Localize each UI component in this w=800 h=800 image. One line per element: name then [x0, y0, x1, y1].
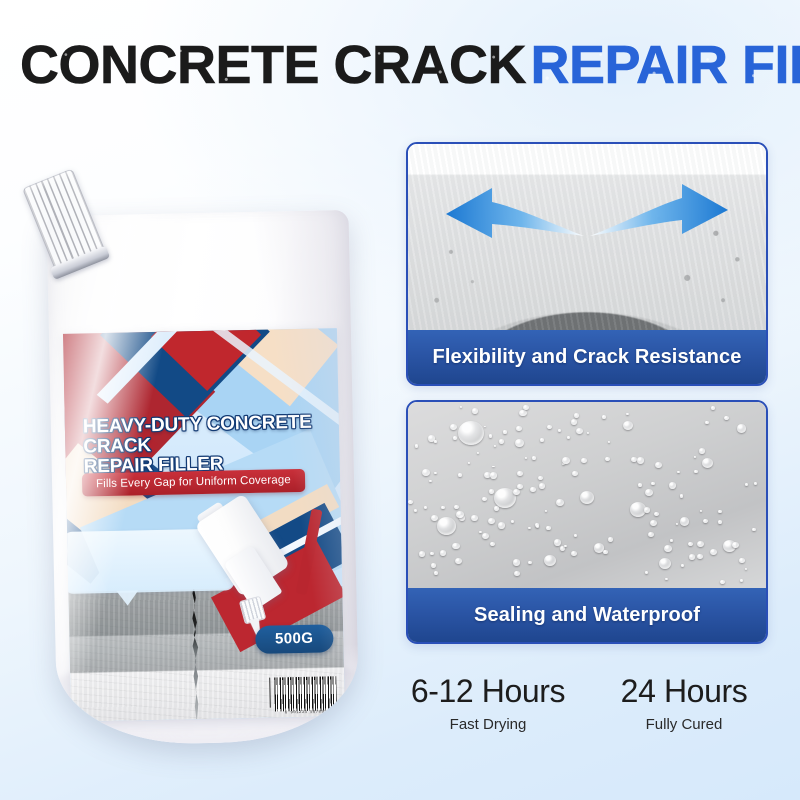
water-droplet [739, 558, 744, 563]
water-droplet [694, 470, 697, 473]
water-droplet [670, 539, 673, 542]
pouch-spout-cap [16, 167, 115, 289]
water-droplet [581, 458, 587, 463]
water-droplet [665, 578, 668, 581]
stat-fully-cured-label: Fully Cured [594, 716, 774, 733]
water-droplet [490, 542, 495, 547]
water-droplet [513, 559, 520, 565]
water-droplet [490, 472, 498, 479]
water-droplet [452, 543, 459, 550]
water-droplet [752, 528, 756, 531]
water-droplet [567, 436, 570, 439]
water-droplet [484, 426, 486, 428]
water-droplet [718, 510, 722, 514]
water-droplet [608, 537, 613, 542]
water-droplet [455, 558, 462, 564]
feature-caption-waterproof: Sealing and Waterproof [408, 588, 766, 642]
water-droplet [456, 511, 463, 518]
water-droplet [546, 526, 550, 530]
water-droplet [515, 439, 524, 447]
water-droplet [532, 456, 537, 460]
water-droplet [525, 457, 527, 459]
water-droplet [511, 520, 514, 523]
water-droplet [440, 550, 446, 555]
water-droplet [536, 525, 539, 528]
water-droplet [745, 483, 748, 486]
water-droplet [645, 489, 653, 496]
barcode [274, 676, 337, 711]
water-droplet [623, 421, 633, 430]
water-droplet [703, 519, 708, 524]
water-droplet [745, 568, 747, 570]
water-droplet [697, 554, 703, 559]
feature-caption-flexibility: Flexibility and Crack Resistance [408, 330, 766, 384]
water-droplet [454, 505, 459, 509]
expansion-arrows-icon [408, 144, 766, 330]
product-label: HEAVY-DUTY CONCRETE CRACK REPAIR FILLER … [63, 328, 345, 722]
water-droplet [488, 518, 495, 524]
water-droplet [528, 561, 532, 565]
water-droplet [530, 487, 535, 492]
water-droplet [699, 448, 706, 454]
water-droplet [482, 533, 489, 539]
water-droplet [718, 520, 723, 524]
water-droplet [688, 542, 692, 546]
water-droplet [650, 520, 657, 526]
water-droplet [626, 413, 628, 415]
weight-badge: 500G [255, 624, 334, 654]
water-droplet [540, 438, 544, 442]
water-droplet [694, 456, 696, 458]
water-droplet [434, 571, 438, 575]
water-droplet [422, 469, 430, 476]
water-droplet [494, 445, 496, 447]
water-droplet [472, 408, 479, 414]
water-droplet [434, 472, 437, 475]
water-droplet [516, 426, 522, 431]
water-droplet [408, 500, 413, 504]
water-droplet [603, 550, 607, 554]
water-droplet [498, 522, 505, 529]
water-droplet [724, 416, 729, 421]
water-droplet [517, 471, 523, 476]
water-droplet [705, 421, 709, 424]
water-droplet [477, 452, 479, 454]
feature-card-waterproof: Sealing and Waterproof [406, 400, 768, 644]
water-droplet [740, 579, 743, 582]
water-droplet [689, 554, 695, 560]
water-droplet [644, 507, 651, 513]
stat-fully-cured-value: 24 Hours [594, 672, 774, 710]
water-droplet [489, 434, 493, 437]
water-droplet [513, 489, 520, 495]
curing-stats: 6-12 Hours Fast Drying 24 Hours Fully Cu… [398, 672, 788, 768]
water-droplet [681, 564, 684, 567]
water-droplet [697, 541, 704, 547]
feature-image-waterproof [408, 402, 766, 588]
stat-fully-cured: 24 Hours Fully Cured [594, 672, 774, 733]
water-droplet [503, 430, 507, 433]
water-droplet [460, 406, 462, 408]
water-droplet [528, 527, 531, 529]
water-droplet [489, 489, 494, 494]
feature-image-flexibility [408, 144, 766, 330]
pouch-body: HEAVY-DUTY CONCRETE CRACK REPAIR FILLER … [46, 210, 359, 746]
water-droplet [659, 558, 671, 569]
feature-card-flexibility: Flexibility and Crack Resistance [406, 142, 768, 386]
product-marketing-banner: CONCRETE CRACK REPAIR FILLER [0, 0, 800, 800]
water-droplet [648, 532, 654, 537]
water-droplet [564, 545, 566, 547]
water-droplet [638, 483, 642, 487]
water-droplet [631, 457, 636, 462]
water-droplet [677, 471, 679, 473]
water-droplet [514, 571, 520, 576]
water-droplet [680, 517, 689, 525]
water-droplet [664, 545, 672, 552]
water-droplet [419, 551, 426, 557]
water-droplet [450, 424, 457, 430]
water-droplet [645, 571, 648, 574]
stat-fast-drying-label: Fast Drying [398, 716, 578, 733]
water-droplet [517, 484, 523, 489]
water-droplet [654, 512, 658, 516]
water-droplet [431, 515, 438, 522]
water-droplet [499, 439, 504, 444]
water-droplet [437, 517, 456, 534]
water-droplet [453, 436, 457, 440]
water-droplet [547, 425, 552, 429]
water-droplet [415, 444, 419, 447]
stat-fast-drying: 6-12 Hours Fast Drying [398, 672, 578, 733]
water-droplet [468, 462, 470, 464]
water-droplet [576, 428, 583, 434]
water-droplet [737, 424, 746, 432]
water-droplet [431, 563, 436, 568]
water-droplet [637, 457, 644, 463]
water-droplet [574, 413, 580, 418]
water-droplet [669, 482, 676, 489]
water-droplet [571, 419, 578, 425]
waterproof-surface-photo [408, 402, 766, 588]
water-droplet [471, 515, 477, 521]
water-droplet [441, 506, 444, 509]
water-droplet [732, 542, 739, 549]
water-droplet [458, 421, 484, 445]
water-droplet [711, 406, 715, 410]
water-droplet [429, 480, 432, 483]
water-droplet [676, 523, 678, 525]
water-droplet [458, 473, 463, 477]
water-droplet [754, 482, 758, 485]
water-droplet [608, 441, 610, 443]
water-droplet [545, 510, 547, 512]
water-droplet [538, 476, 543, 481]
water-droplet [605, 457, 610, 461]
water-droplet [556, 499, 564, 506]
water-droplet [651, 482, 655, 486]
water-droplet [494, 506, 499, 511]
water-droplet [572, 471, 578, 477]
page-title-accent: REPAIR FILLER [530, 35, 800, 95]
water-droplet [574, 534, 577, 537]
page-title: CONCRETE CRACK REPAIR FILLER [20, 36, 784, 98]
page-title-primary: CONCRETE CRACK [20, 35, 526, 95]
water-droplet [539, 483, 545, 488]
water-droplet [700, 510, 703, 512]
water-droplet [571, 551, 577, 556]
water-droplet [587, 432, 589, 434]
water-droplet [720, 580, 724, 584]
water-droplet [602, 415, 606, 419]
water-droplet [710, 549, 717, 555]
stat-fast-drying-value: 6-12 Hours [398, 672, 578, 710]
water-droplet [434, 440, 437, 443]
water-droplet [554, 539, 562, 546]
water-droplet [562, 457, 570, 464]
water-droplet [519, 410, 526, 416]
water-droplet [479, 531, 481, 533]
water-droplet [430, 552, 434, 555]
water-droplet [482, 497, 486, 501]
water-droplet [544, 555, 556, 566]
water-droplet [655, 462, 662, 469]
water-droplet [424, 506, 427, 509]
product-package: HEAVY-DUTY CONCRETE CRACK REPAIR FILLER … [28, 175, 358, 750]
water-droplet [414, 509, 417, 512]
water-droplet [580, 491, 594, 504]
water-droplet [558, 429, 561, 432]
water-droplet [680, 494, 683, 497]
water-droplet [702, 458, 713, 468]
water-droplet [492, 466, 494, 468]
